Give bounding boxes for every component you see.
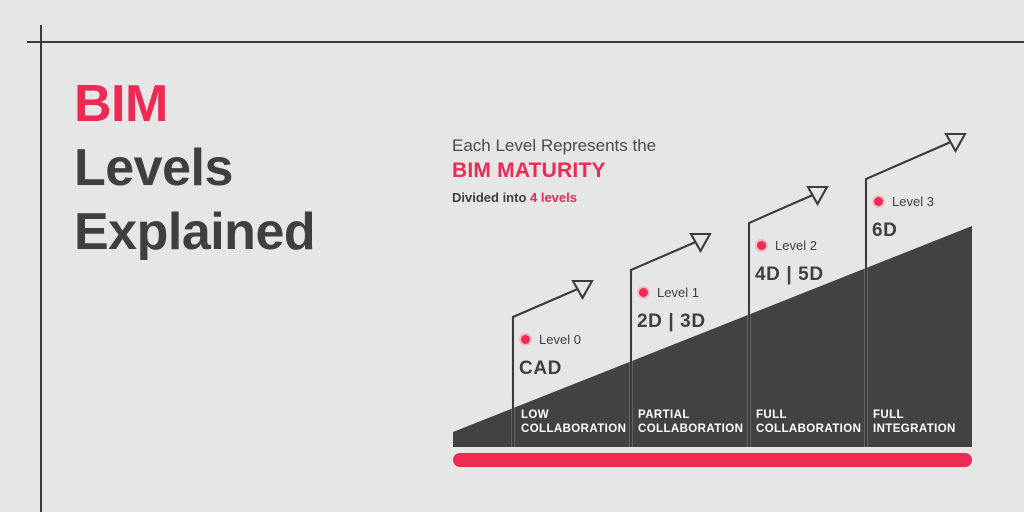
level-tag-2: Level 2 [755, 237, 824, 253]
footer-label-3: FULL INTEGRATION [873, 408, 956, 436]
level-dimension-3: 6D [872, 220, 934, 242]
red-dot-icon-0 [519, 333, 532, 346]
footer-label-0: LOW COLLABORATION [521, 408, 626, 436]
level-dimension-0: CAD [519, 358, 581, 380]
level-dimension-2: 4D | 5D [755, 264, 824, 286]
level-tag-label-2: Level 2 [775, 238, 817, 253]
level-block-2: Level 2 4D | 5D [755, 237, 824, 286]
infographic-canvas: BIM Levels Explained Each Level Represen… [0, 0, 1024, 512]
footer-label-1: PARTIAL COLLABORATION [638, 408, 743, 436]
level-tag-label-1: Level 1 [657, 285, 699, 300]
level-tag-1: Level 1 [637, 284, 706, 300]
level-tag-label-3: Level 3 [892, 194, 934, 209]
level-tag-3: Level 3 [872, 193, 934, 209]
red-dot-icon-3 [872, 195, 885, 208]
level-block-3: Level 3 6D [872, 193, 934, 242]
bim-levels-diagram [0, 0, 1024, 512]
level-block-1: Level 1 2D | 3D [637, 284, 706, 333]
level-tag-0: Level 0 [519, 331, 581, 347]
accent-bar [453, 453, 972, 467]
footer-label-2: FULL COLLABORATION [756, 408, 861, 436]
level-block-0: Level 0 CAD [519, 331, 581, 380]
level-dimension-1: 2D | 3D [637, 311, 706, 333]
red-dot-icon-1 [637, 286, 650, 299]
level-tag-label-0: Level 0 [539, 332, 581, 347]
red-dot-icon-2 [755, 239, 768, 252]
